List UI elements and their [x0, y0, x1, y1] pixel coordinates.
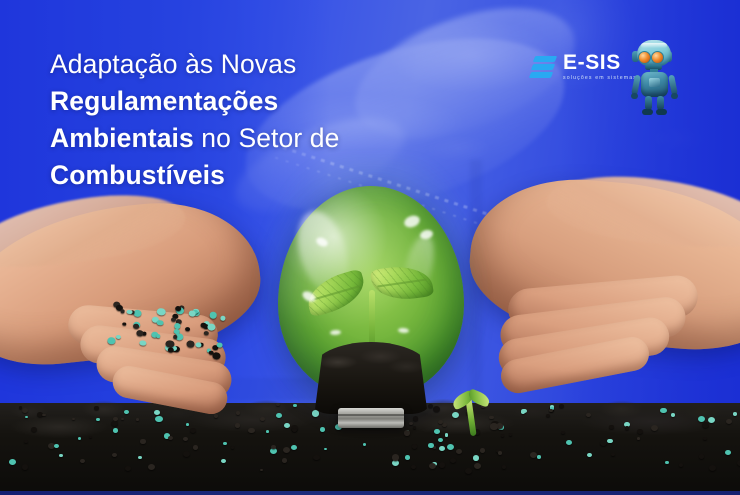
eco-fuel-regulation-banner: Adaptação às Novas Regulamentações Ambie… — [0, 0, 740, 495]
headline-line-4: Combustíveis — [50, 160, 225, 190]
banner-headline: Adaptação às Novas Regulamentações Ambie… — [50, 46, 450, 194]
headline-line-3-bold: Ambientais — [50, 123, 194, 153]
green-lightbulb-icon — [278, 186, 464, 438]
brand-logo[interactable]: E-SIS soluções em sistemas — [530, 52, 637, 81]
bulb-soil — [312, 342, 430, 414]
esis-bars-logo-icon — [530, 54, 556, 79]
bulb-metal-base — [338, 408, 404, 428]
open-hand-icon — [440, 178, 740, 418]
headline-line-2: Regulamentações — [50, 86, 278, 116]
hand-holding-seeds-icon — [0, 192, 290, 427]
headline-line-1: Adaptação às Novas — [50, 46, 450, 83]
robot-mascot-icon — [626, 40, 684, 116]
headline-line-3-rest: no Setor de — [194, 123, 340, 153]
logo-lockup: E-SIS soluções em sistemas — [530, 52, 637, 81]
bottom-accent-line — [0, 491, 740, 495]
